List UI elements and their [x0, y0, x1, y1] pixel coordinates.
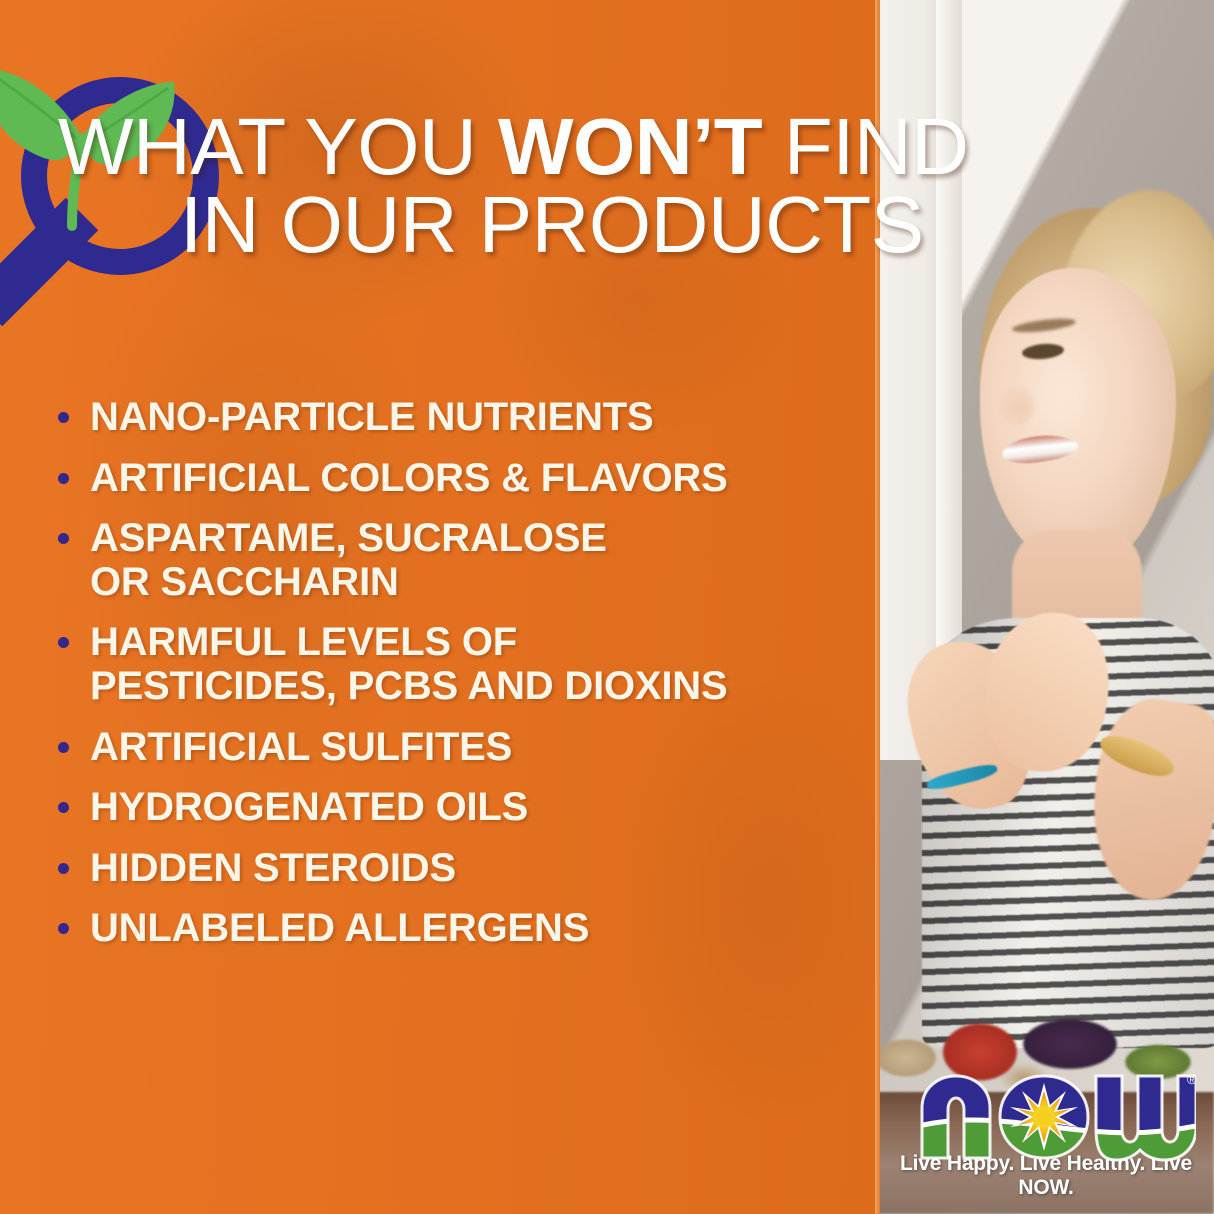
- list-item-label: HIDDEN STEROIDS: [90, 847, 456, 891]
- list-item: HYDROGENATED OILS: [58, 786, 858, 830]
- bullet-dot-icon: [58, 473, 69, 484]
- list-item-label: ARTIFICIAL SULFITES: [90, 726, 512, 770]
- bullet-dot-icon: [58, 742, 69, 753]
- list-item-label: HARMFUL LEVELS OF PESTICIDES, PCBS AND D…: [90, 621, 727, 708]
- now-brand-logo: ®: [896, 1062, 1196, 1192]
- headline-emphasis-wont: WON’T: [498, 102, 762, 191]
- bullet-dot-icon: [58, 533, 69, 544]
- bullet-dot-icon: [58, 923, 69, 934]
- bullet-dot-icon: [58, 863, 69, 874]
- list-item: UNLABELED ALLERGENS: [58, 907, 858, 951]
- list-item-label: HYDROGENATED OILS: [90, 786, 528, 830]
- list-item: ARTIFICIAL SULFITES: [58, 726, 858, 770]
- bullet-dot-icon: [58, 412, 69, 423]
- list-item: ASPARTAME, SUCRALOSE OR SACCHARIN: [58, 517, 858, 604]
- registered-trademark-icon: ®: [1187, 1072, 1196, 1087]
- headline-line-2: IN OUR PRODUCTS: [0, 186, 1180, 264]
- list-item: ARTIFICIAL COLORS & FLAVORS: [58, 457, 858, 501]
- headline-line-1: WHAT YOU WON’T FIND: [0, 108, 1180, 186]
- list-item: NANO-PARTICLE NUTRIENTS: [58, 396, 858, 440]
- poster-canvas: WHAT YOU WON’T FIND IN OUR PRODUCTS NANO…: [0, 0, 1214, 1214]
- list-item: HARMFUL LEVELS OF PESTICIDES, PCBS AND D…: [58, 621, 858, 708]
- list-item-label: ASPARTAME, SUCRALOSE OR SACCHARIN: [90, 517, 607, 604]
- headline-line1-post: FIND: [762, 102, 968, 191]
- list-item-label: ARTIFICIAL COLORS & FLAVORS: [90, 457, 728, 501]
- bullet-dot-icon: [58, 802, 69, 813]
- list-item-label: NANO-PARTICLE NUTRIENTS: [90, 396, 654, 440]
- excluded-ingredients-list: NANO-PARTICLE NUTRIENTS ARTIFICIAL COLOR…: [58, 396, 858, 968]
- page-title: WHAT YOU WON’T FIND IN OUR PRODUCTS: [0, 108, 1180, 263]
- bullet-dot-icon: [58, 637, 69, 648]
- headline-line1-pre: WHAT YOU: [58, 102, 498, 191]
- list-item: HIDDEN STEROIDS: [58, 847, 858, 891]
- list-item-label: UNLABELED ALLERGENS: [90, 907, 589, 951]
- photo-woman-nose: [1000, 386, 1034, 426]
